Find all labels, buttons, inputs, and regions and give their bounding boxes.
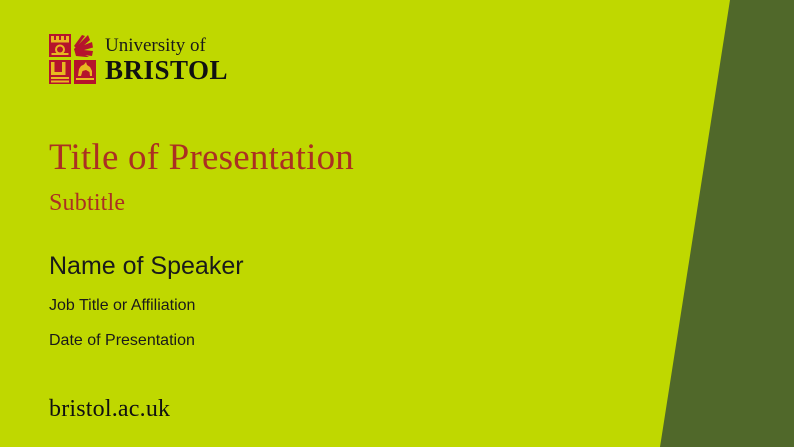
bristol-crest-icon [49, 34, 96, 84]
diagonal-accent-shape [594, 0, 794, 447]
presentation-title-slide: University of BRISTOL Title of Presentat… [0, 0, 794, 447]
university-logo[interactable]: University of BRISTOL [49, 34, 228, 84]
logo-line-university: University of [105, 35, 228, 57]
presentation-title: Title of Presentation [49, 136, 354, 179]
logo-wordmark: University of BRISTOL [105, 34, 228, 83]
speaker-job-title: Job Title or Affiliation [49, 297, 195, 315]
presentation-date: Date of Presentation [49, 332, 195, 350]
presentation-subtitle: Subtitle [49, 190, 125, 217]
logo-line-bristol: BRISTOL [105, 57, 228, 83]
website-url[interactable]: bristol.ac.uk [49, 396, 170, 423]
speaker-name: Name of Speaker [49, 252, 244, 281]
